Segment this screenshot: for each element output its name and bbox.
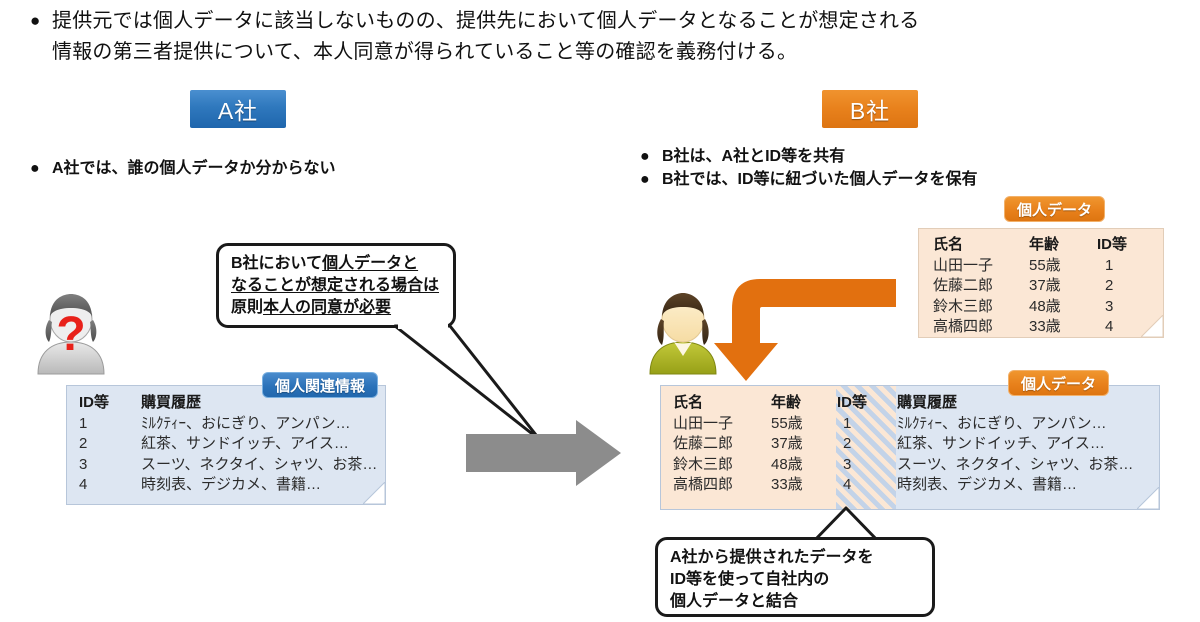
orange-elbow-down-arrow xyxy=(700,255,900,390)
col-header-age: 年齢 xyxy=(771,393,837,414)
table-b-merged: 氏名 年齢 ID等 購買履歴 山田一子 55歳 1 ﾐﾙｸﾃｨｰ、おにぎり、アン… xyxy=(673,393,1133,496)
bullet-dot-icon: ● xyxy=(30,6,52,36)
company-a-bullet-1: A社では、誰の個人データか分からない xyxy=(52,160,336,177)
table-a-tag: 個人関連情報 xyxy=(262,372,378,398)
page-fold-icon xyxy=(363,482,385,504)
callout-top-line-1: B社において個人データと xyxy=(231,253,443,275)
header-bullet-block: ● 提供元では個人データに該当しないものの、提供先において個人データとなることが… xyxy=(30,6,1170,68)
callout-bottom: A社から提供されたデータを ID等を使って自社内の 個人データと結合 xyxy=(655,537,935,617)
table-row: 高橋四郎 33歳 4 時刻表、デジカメ、書籍… xyxy=(673,475,1133,496)
table-a-card: ID等 購買履歴 1 ﾐﾙｸﾃｨｰ、おにぎり、アンパン… 2 紅茶、サンドイッチ… xyxy=(66,385,386,505)
company-b-bullets: ●B社は、A社とID等を共有 ●B社では、ID等に紐づいた個人データを保有 xyxy=(640,145,978,191)
header-line-1: 提供元では個人データに該当しないものの、提供先において個人データとなることが想定… xyxy=(52,6,919,37)
company-a-badge: A社 xyxy=(190,90,286,128)
callout-bottom-line-2: ID等を使って自社内の xyxy=(670,569,922,591)
bullet-dot-icon: ● xyxy=(640,145,662,168)
callout-top: B社において個人データと なることが想定される場合は 原則本人の同意が必要 xyxy=(216,243,456,328)
callout-bottom-line-3: 個人データと結合 xyxy=(670,591,922,613)
table-b-top: 氏名 年齢 ID等 山田一子 55歳 1 佐藤二郎 37歳 2 鈴木三郎 48歳 xyxy=(933,235,1127,338)
table-row: 高橋四郎 33歳 4 xyxy=(933,317,1127,338)
table-row: 3 スーツ、ネクタイ、シャツ、お茶… xyxy=(79,455,377,476)
table-row: 山田一子 55歳 1 ﾐﾙｸﾃｨｰ、おにぎり、アンパン… xyxy=(673,414,1133,435)
table-row: 4 時刻表、デジカメ、書籍… xyxy=(79,475,377,496)
company-a-bullets: ●A社では、誰の個人データか分からない xyxy=(30,157,336,180)
svg-text:?: ? xyxy=(56,308,85,361)
table-row: 氏名 年齢 ID等 購買履歴 xyxy=(673,393,1133,414)
grey-right-arrow xyxy=(466,418,626,493)
table-row: 1 ﾐﾙｸﾃｨｰ、おにぎり、アンパン… xyxy=(79,414,377,435)
callout-bottom-line-1: A社から提供されたデータを xyxy=(670,547,922,569)
col-header-id: ID等 xyxy=(79,393,141,414)
col-header-history: 購買履歴 xyxy=(897,393,1133,414)
bullet-dot-icon: ● xyxy=(640,168,662,191)
col-header-age: 年齢 xyxy=(1029,235,1097,256)
company-b-badge: B社 xyxy=(822,90,918,128)
table-row: 佐藤二郎 37歳 2 xyxy=(933,276,1127,297)
col-header-name: 氏名 xyxy=(673,393,771,414)
page-fold-icon xyxy=(1137,487,1159,509)
header-line-2: 情報の第三者提供について、本人同意が得られていること等の確認を義務付ける。 xyxy=(52,37,919,68)
callout-top-line-2: なることが想定される場合は xyxy=(231,275,443,297)
col-header-id: ID等 xyxy=(837,393,897,414)
company-b-bullet-1: B社は、A社とID等を共有 xyxy=(662,148,845,165)
table-row: 佐藤二郎 37歳 2 紅茶、サンドイッチ、アイス… xyxy=(673,434,1133,455)
table-b-top-card: 氏名 年齢 ID等 山田一子 55歳 1 佐藤二郎 37歳 2 鈴木三郎 48歳 xyxy=(918,228,1164,338)
table-row: 山田一子 55歳 1 xyxy=(933,256,1127,277)
page-fold-icon xyxy=(1141,315,1163,337)
table-row: 2 紅茶、サンドイッチ、アイス… xyxy=(79,434,377,455)
table-row: 鈴木三郎 48歳 3 xyxy=(933,297,1127,318)
company-b-bullet-2: B社では、ID等に紐づいた個人データを保有 xyxy=(662,171,978,188)
callout-top-line-3: 原則本人の同意が必要 xyxy=(231,297,443,319)
table-row: 鈴木三郎 48歳 3 スーツ、ネクタイ、シャツ、お茶… xyxy=(673,455,1133,476)
table-row: 氏名 年齢 ID等 xyxy=(933,235,1127,256)
bullet-dot-icon: ● xyxy=(30,157,52,180)
table-b-merged-card: 氏名 年齢 ID等 購買履歴 山田一子 55歳 1 ﾐﾙｸﾃｨｰ、おにぎり、アン… xyxy=(660,385,1160,510)
person-question-icon: ? xyxy=(28,286,114,378)
table-b-merged-tag: 個人データ xyxy=(1008,370,1109,396)
col-header-id: ID等 xyxy=(1097,235,1127,256)
slide-canvas: ● 提供元では個人データに該当しないものの、提供先において個人データとなることが… xyxy=(0,0,1200,622)
table-a: ID等 購買履歴 1 ﾐﾙｸﾃｨｰ、おにぎり、アンパン… 2 紅茶、サンドイッチ… xyxy=(79,393,377,496)
col-header-name: 氏名 xyxy=(933,235,1029,256)
table-b-top-tag: 個人データ xyxy=(1004,196,1105,222)
